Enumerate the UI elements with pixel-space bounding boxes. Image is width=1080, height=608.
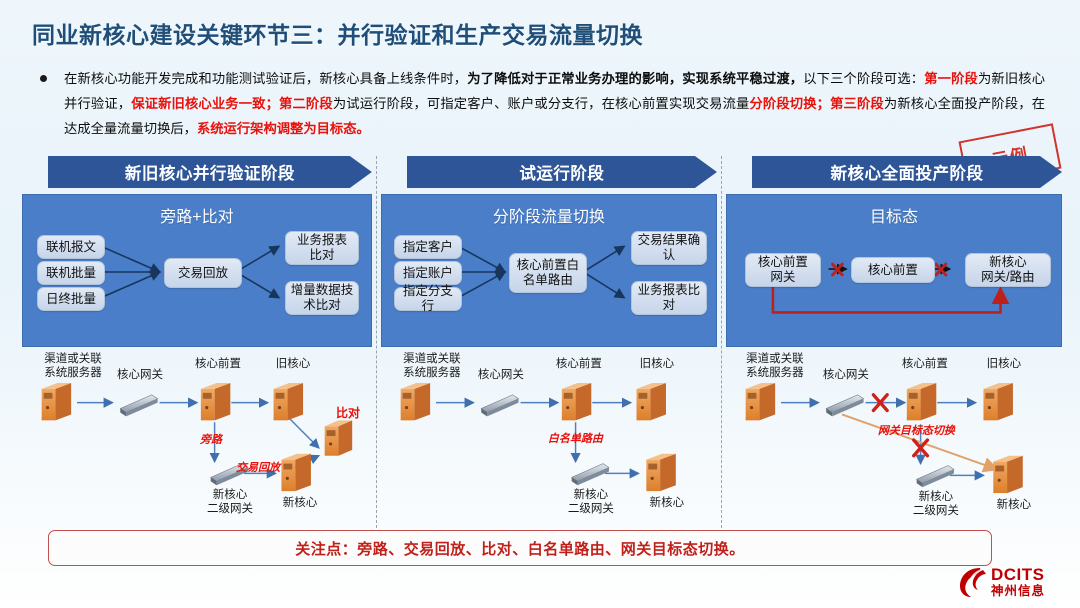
phase-column-1: 新旧核心并行验证阶段 旁路+比对 [22, 156, 372, 528]
dcits-logo: DCITS 神州信息 [958, 561, 1076, 603]
flow-panel-3: 目标态 [726, 194, 1062, 347]
server-icon-11 [907, 383, 936, 420]
bullet-segment-3: 第一阶段 [924, 71, 978, 86]
flow-panel-2: 分阶段流量切换 指定客户 指定账户 指定分支行 核心前置白 名单路由 交易结果确… [381, 194, 717, 347]
bullet-segment-9: 第三阶段 [830, 96, 884, 111]
flow-node-1-6: 增量数据技 术比对 [285, 281, 359, 315]
server-icon-12 [983, 383, 1012, 420]
server-icon-3 [274, 383, 303, 420]
flow-panel-title-1: 旁路+比对 [23, 199, 371, 227]
server-annotation-3-1: 网关目标态切换 [878, 422, 955, 438]
server-caption-2-2: 核心网关 [469, 368, 533, 382]
server-caption-1-6: 新核心 [269, 496, 331, 510]
server-caption-2-3: 核心前置 [546, 357, 612, 371]
column-separator-1 [376, 156, 377, 528]
phase-column-3: 新核心全面投产阶段 目标态 [726, 156, 1062, 528]
server-icon-6 [400, 383, 429, 420]
bullet-segment-5: 保证新旧核心业务一致； [131, 96, 279, 111]
server-icon-10 [746, 383, 775, 420]
flow-node-3-1: 核心前置 网关 [745, 253, 821, 287]
dcits-logo-en: DCITS [991, 566, 1045, 584]
server-caption-3-3: 核心前置 [892, 357, 958, 371]
column-separator-2 [721, 156, 722, 528]
server-caption-2-6: 新核心 [636, 496, 698, 510]
server-icon-2 [201, 383, 230, 420]
gateway-icon-5 [826, 395, 863, 417]
flow-node-1-2: 联机批量 [37, 261, 105, 285]
phase-banner-label-1: 新旧核心并行验证阶段 [125, 160, 295, 184]
footer-note: 关注点：旁路、交易回放、比对、白名单路由、网关目标态切换。 [48, 530, 992, 566]
server-caption-3-5: 新核心 二级网关 [895, 490, 977, 518]
flow-node-2-6: 业务报表比 对 [631, 281, 707, 315]
flow-node-1-1: 联机报文 [37, 235, 105, 259]
server-caption-3-2: 核心网关 [814, 368, 878, 382]
server-icon-8 [636, 383, 665, 420]
server-annotation-1-1: 旁路 [200, 431, 222, 447]
server-annotation-1-3: 比对 [336, 404, 360, 421]
phase-banner-3: 新核心全面投产阶段 [752, 156, 1062, 188]
server-caption-2-1: 渠道或关联 系统服务器 [389, 352, 475, 380]
bullet-segment-8: 分阶段切换； [749, 96, 830, 111]
bullet-segment-1: 为了降低对于正常业务办理的影响，实现系统平稳过渡， [467, 71, 803, 86]
slide-root: 同业新核心建设关键环节三：并行验证和生产交易流量切换 在新核心功能开发完成和功能… [0, 0, 1080, 608]
gateway-icon-6 [917, 466, 954, 488]
gateway-icon-3 [481, 395, 518, 417]
phase-banner-label-3: 新核心全面投产阶段 [830, 160, 983, 184]
phase-banner-1: 新旧核心并行验证阶段 [48, 156, 372, 188]
server-caption-1-4: 旧核心 [265, 357, 321, 371]
server-caption-3-4: 旧核心 [976, 357, 1032, 371]
server-caption-2-4: 旧核心 [629, 357, 685, 371]
bullet-segment-0: 在新核心功能开发完成和功能测试验证后，新核心具备上线条件时， [64, 71, 467, 86]
server-caption-2-5: 新核心 二级网关 [550, 488, 632, 516]
server-icon-4 [281, 454, 310, 491]
flow-node-2-5: 交易结果确 认 [631, 231, 707, 265]
server-caption-1-2: 核心网关 [108, 368, 172, 382]
server-caption-1-3: 核心前置 [185, 357, 251, 371]
phase-column-2: 试运行阶段 分阶段流量切换 指定客户 指定账户 指定分支行 核心前置白 名单 [381, 156, 717, 528]
bullet-block: 在新核心功能开发完成和功能测试验证后，新核心具备上线条件时，为了降低对于正常业务… [40, 66, 1045, 141]
server-annotation-1-2: 交易回放 [236, 459, 280, 475]
phase-banner-label-2: 试运行阶段 [519, 160, 604, 184]
server-caption-3-1: 渠道或关联 系统服务器 [732, 352, 818, 380]
flow-node-2-3: 指定分支行 [394, 287, 462, 311]
server-diagram-1: 渠道或关联 系统服务器 核心网关 核心前置 旧核心 新核心 二级网关 新核心 旁… [22, 352, 372, 528]
server-caption-1-1: 渠道或关联 系统服务器 [30, 352, 116, 380]
flow-node-2-4: 核心前置白 名单路由 [509, 253, 587, 293]
bullet-segment-6: 第二阶段 [279, 96, 333, 111]
flow-node-1-3: 日终批量 [37, 287, 105, 311]
flow-node-1-4: 交易回放 [164, 258, 242, 288]
bullet-paragraph: 在新核心功能开发完成和功能测试验证后，新核心具备上线条件时，为了降低对于正常业务… [64, 66, 1045, 141]
server-icon-9 [646, 454, 675, 491]
server-icon-5 [325, 420, 353, 455]
flow-node-2-2: 指定账户 [394, 261, 462, 285]
flow-panel-title-3: 目标态 [727, 199, 1061, 227]
server-icon-1 [42, 383, 71, 420]
server-diagram-3: 渠道或关联 系统服务器 核心网关 核心前置 旧核心 新核心 二级网关 新核心 网… [726, 352, 1062, 528]
bullet-segment-7: 为试运行阶段，可指定客户、账户或分支行，在核心前置实现交易流量 [333, 96, 750, 111]
flow-panel-title-2: 分阶段流量切换 [382, 199, 716, 227]
dcits-logo-text: DCITS 神州信息 [991, 566, 1045, 598]
server-caption-3-6: 新核心 [983, 498, 1045, 512]
flow-node-1-5: 业务报表 比对 [285, 231, 359, 265]
flow-panel-1: 旁路+比对 联机报文 联机批 [22, 194, 372, 347]
bullet-dot-icon [40, 75, 47, 82]
server-icon-13 [993, 456, 1022, 493]
flow-node-2-1: 指定客户 [394, 235, 462, 259]
bullet-segment-2: 以下三个阶段可选： [803, 71, 924, 86]
bullet-segment-11: 系统运行架构调整为目标态。 [197, 121, 370, 136]
phase-banner-2: 试运行阶段 [407, 156, 717, 188]
gateway-icon-1 [120, 395, 157, 417]
phase-columns: 新旧核心并行验证阶段 旁路+比对 [22, 156, 1062, 528]
page-title: 同业新核心建设关键环节三：并行验证和生产交易流量切换 [32, 16, 643, 50]
dcits-logo-mark-icon [958, 565, 988, 599]
server-icon-7 [562, 383, 591, 420]
server-caption-1-5: 新核心 二级网关 [189, 488, 271, 516]
gateway-icon-4 [571, 464, 608, 486]
dcits-logo-cn: 神州信息 [991, 584, 1045, 598]
flow-node-3-2: 核心前置 [851, 257, 935, 283]
server-diagram-2: 渠道或关联 系统服务器 核心网关 核心前置 旧核心 新核心 二级网关 新核心 白… [381, 352, 717, 528]
flow-node-3-3: 新核心 网关/路由 [965, 253, 1051, 287]
server-annotation-2-1: 白名单路由 [548, 430, 603, 446]
footer-note-label: 关注点：旁路、交易回放、比对、白名单路由、网关目标态切换。 [295, 538, 745, 559]
